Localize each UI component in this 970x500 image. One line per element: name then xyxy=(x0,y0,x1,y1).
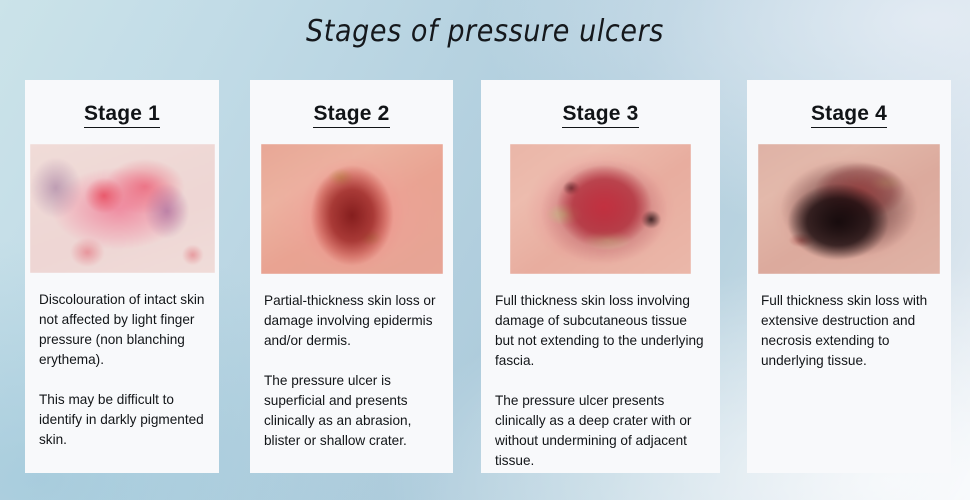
stage-1-paragraph-1: Discolouration of intact skin not affect… xyxy=(39,290,205,370)
stage-card-2: Stage 2 Partial-thickness skin loss or d… xyxy=(250,80,453,473)
stage-3-paragraph-1: Full thickness skin loss involving damag… xyxy=(495,291,706,371)
stage-3-wound-photo xyxy=(510,144,691,274)
stage-1-paragraph-2: This may be difficult to identify in dar… xyxy=(39,390,205,450)
stage-4-header: Stage 4 xyxy=(747,102,951,126)
stage-4-wound-photo-surface xyxy=(758,144,940,274)
stage-1-header: Stage 1 xyxy=(25,102,219,126)
stage-3-wound-photo-surface xyxy=(510,144,691,274)
stage-1-wound-photo xyxy=(30,144,215,273)
stage-4-wound-photo xyxy=(758,144,940,274)
page-title: Stages of pressure ulcers xyxy=(0,14,970,49)
stage-2-paragraph-2: The pressure ulcer is superficial and pr… xyxy=(264,371,439,451)
stage-card-1: Stage 1 Discolouration of intact skin no… xyxy=(25,80,219,473)
stage-card-4: Stage 4 Full thickness skin loss with ex… xyxy=(747,80,951,473)
stage-2-paragraph-1: Partial-thickness skin loss or damage in… xyxy=(264,291,439,351)
stage-4-paragraph-1: Full thickness skin loss with extensive … xyxy=(761,291,937,371)
stage-2-wound-photo xyxy=(261,144,443,274)
stage-1-wound-photo-surface xyxy=(30,144,215,273)
stage-1-header-label: Stage 1 xyxy=(84,102,160,128)
stage-3-header: Stage 3 xyxy=(481,102,720,126)
stage-3-header-label: Stage 3 xyxy=(562,102,638,128)
stage-2-header-label: Stage 2 xyxy=(313,102,389,128)
stage-card-3: Stage 3 Full thickness skin loss involvi… xyxy=(481,80,720,473)
stage-4-body: Full thickness skin loss with extensive … xyxy=(747,291,951,371)
stage-4-header-label: Stage 4 xyxy=(811,102,887,128)
stage-2-header: Stage 2 xyxy=(250,102,453,126)
stage-3-body: Full thickness skin loss involving damag… xyxy=(481,291,720,471)
stage-3-paragraph-2: The pressure ulcer presents clinically a… xyxy=(495,391,706,471)
stage-2-body: Partial-thickness skin loss or damage in… xyxy=(250,291,453,451)
stage-2-wound-photo-surface xyxy=(261,144,443,274)
stage-1-body: Discolouration of intact skin not affect… xyxy=(25,290,219,450)
